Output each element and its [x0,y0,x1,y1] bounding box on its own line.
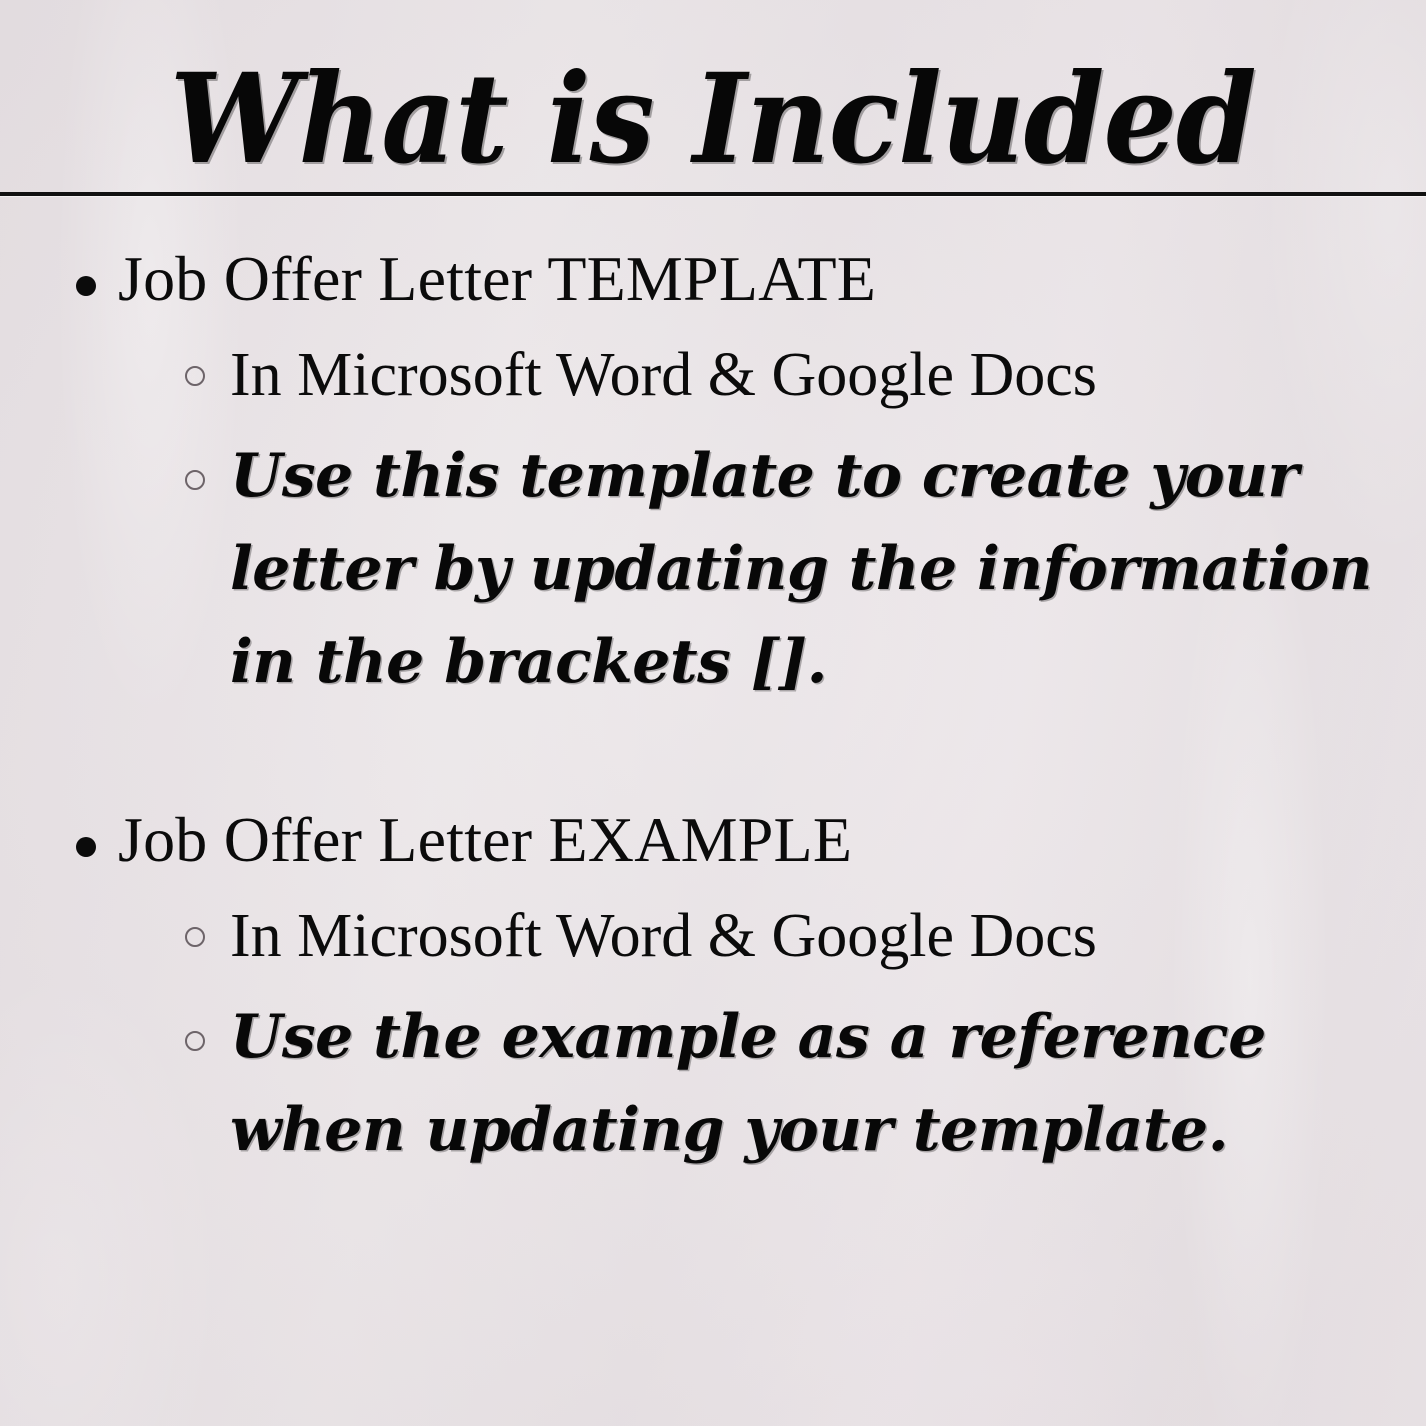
bullet-item-level2: In Microsoft Word & Google Docs [0,891,1426,981]
circle-bullet-icon [185,366,205,386]
bullet-item-level2-emphasis: Use this template to create your letter … [0,430,1426,709]
bullet-group-example: Job Offer Letter EXAMPLE In Microsoft Wo… [0,797,1426,1177]
page-title: What is Included [170,58,1256,182]
bullet-item-level2-emphasis: Use the example as a reference when upda… [0,991,1426,1177]
bullet-list: Job Offer Letter TEMPLATE In Microsoft W… [0,236,1426,1177]
bullet-level2-emphasis-label: Use the example as a reference when upda… [230,1002,1266,1165]
disc-bullet-icon [76,276,96,296]
bullet-item-level2: In Microsoft Word & Google Docs [0,330,1426,420]
bullet-level1-label: Job Offer Letter TEMPLATE [118,243,876,314]
bullet-level2-emphasis-label: Use this template to create your letter … [230,441,1372,697]
title-divider [0,192,1426,196]
bullet-level1-label: Job Offer Letter EXAMPLE [118,804,852,875]
circle-bullet-icon [185,927,205,947]
title-container: What is Included [0,56,1426,184]
bullet-item-level1: Job Offer Letter EXAMPLE [0,797,1426,883]
circle-bullet-icon [185,470,205,490]
bullet-item-level1: Job Offer Letter TEMPLATE [0,236,1426,322]
bullet-level2-label: In Microsoft Word & Google Docs [230,341,1097,409]
slide-canvas: What is Included Job Offer Letter TEMPLA… [0,0,1426,1426]
bullet-level2-label: In Microsoft Word & Google Docs [230,902,1097,970]
bullet-group-template: Job Offer Letter TEMPLATE In Microsoft W… [0,236,1426,709]
circle-bullet-icon [185,1031,205,1051]
disc-bullet-icon [76,837,96,857]
